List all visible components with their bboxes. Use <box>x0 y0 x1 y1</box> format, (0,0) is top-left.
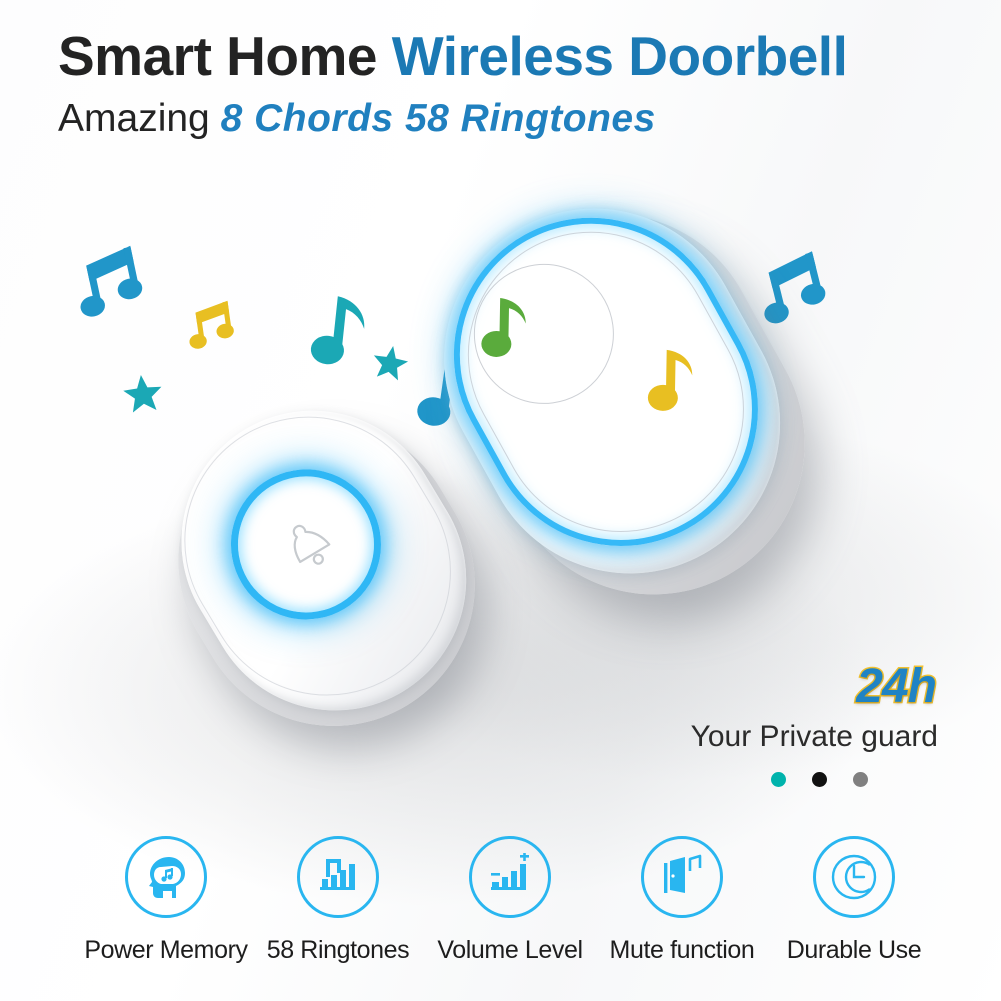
yellow-music-note <box>642 341 701 418</box>
volume-level-bars-icon <box>469 836 551 918</box>
feature-item-4: Mute function <box>596 836 768 965</box>
carousel-dots[interactable] <box>640 772 868 787</box>
badge-24h: 24h <box>640 660 936 714</box>
music-note-single-teal <box>301 289 379 376</box>
guard-tagline: Your Private guard <box>640 718 938 756</box>
clock-icon <box>813 836 895 918</box>
feature-label: Volume Level <box>424 936 596 965</box>
page-subtitle-dark: Amazing <box>58 97 221 140</box>
feature-item-3: Volume Level <box>424 836 596 965</box>
product-poster: Smart Home Wireless Doorbell Amazing 8 C… <box>0 0 1001 1001</box>
feature-label: Mute function <box>596 936 768 965</box>
music-note-double-blue-right <box>749 244 843 335</box>
page-subtitle: Amazing 8 Chords 58 Ringtones <box>58 96 656 142</box>
carousel-dot-1[interactable] <box>771 772 786 787</box>
star-teal-mid <box>368 342 412 386</box>
carousel-dot-2[interactable] <box>812 772 827 787</box>
page-title-dark: Smart Home <box>58 25 392 87</box>
carousel-dot-3[interactable] <box>853 772 868 787</box>
feature-label: 58 Ringtones <box>252 936 424 965</box>
feature-label: Power Memory <box>80 936 252 965</box>
open-door-music-note-icon <box>641 836 723 918</box>
page-title-blue: Wireless Doorbell <box>392 25 848 87</box>
head-with-music-note-icon <box>125 836 207 918</box>
page-title: Smart Home Wireless Doorbell <box>58 26 847 86</box>
feature-item-5: Durable Use <box>768 836 940 965</box>
music-note-double-blue <box>67 239 159 328</box>
receiver-inner-seam <box>424 188 788 577</box>
feature-item-2: 58 Ringtones <box>252 836 424 965</box>
music-note-bars-icon <box>297 836 379 918</box>
guard-block: 24h Your Private guard <box>640 660 940 787</box>
feature-label: Durable Use <box>768 936 940 965</box>
star-teal-left <box>120 372 166 418</box>
feature-item-1: Power Memory <box>80 836 252 965</box>
page-subtitle-blue: 8 Chords 58 Ringtones <box>221 97 656 140</box>
green-music-note <box>475 290 534 365</box>
music-note-double-yellow <box>183 296 245 355</box>
feature-list: Power Memory58 RingtonesVolume LevelMute… <box>80 836 940 965</box>
